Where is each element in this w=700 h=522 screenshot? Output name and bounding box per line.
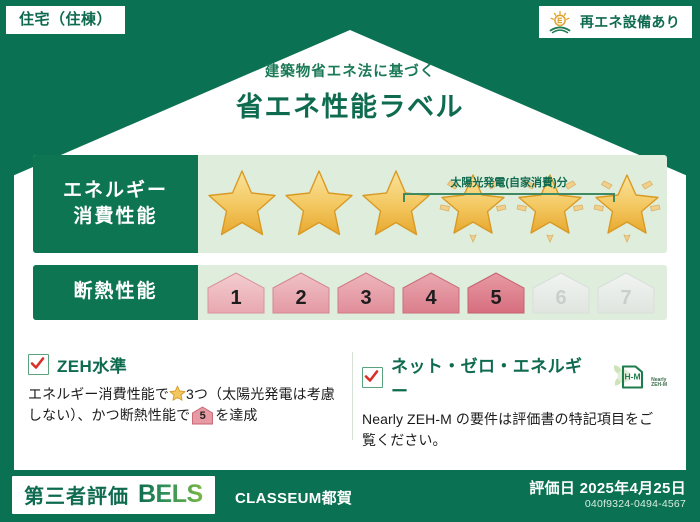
claim-body: Nearly ZEH-M の要件は評価書の特記項目をご覧ください。 <box>362 409 667 452</box>
star-solar <box>437 165 509 243</box>
insulation-level: 3 <box>335 271 397 315</box>
claim-text-part2: 3つ（太陽光発電 <box>186 386 293 402</box>
star-icon <box>169 385 186 402</box>
insulation-level: 1 <box>205 271 267 315</box>
bels-certification-box: 第三者評価 BELS <box>12 476 215 514</box>
energy-performance-label: 住宅（住棟） 再エネ設備あり 建築物省エネ法に基づく 省エネ性能ラベル <box>0 0 700 522</box>
title-subtitle: 建築物省エネ法に基づく <box>0 60 700 81</box>
claim-net-zero-energy: ネット・ゼロ・エネルギー H-M Nearly ZEH-M Nearly ZEH… <box>362 352 667 452</box>
checkmark-icon <box>28 354 49 375</box>
zeh-m-logo-caption: Nearly ZEH-M <box>651 378 667 393</box>
insulation-performance-row: 断熱性能 1 <box>33 265 667 320</box>
claim-text-part1: エネルギー消費性能で <box>28 386 169 402</box>
insulation-level-scale: 1 2 3 4 5 <box>198 271 667 315</box>
insulation-level-number: 2 <box>270 287 332 310</box>
energy-label-line1: エネルギー <box>63 178 168 204</box>
claims-divider <box>352 352 353 440</box>
star-filled <box>283 165 355 243</box>
insulation-row-body: 1 2 3 4 5 <box>198 265 667 320</box>
zeh-m-logo: H-M Nearly ZEH-M <box>609 362 667 392</box>
insulation-level-number: 3 <box>335 287 397 310</box>
insulation-level: 2 <box>270 271 332 315</box>
zeh-m-caption-line2: ZEH-M <box>651 382 667 388</box>
star-filled <box>360 165 432 243</box>
evaluation-id: 040f9324-0494-4567 <box>585 498 686 510</box>
building-type-label: 住宅（住棟） <box>19 11 112 28</box>
claim-zeh-standard: ZEH水準 エネルギー消費性能で3つ（太陽光発電は考慮しない）、かつ断熱性能で5… <box>28 352 343 427</box>
insulation-level-number: 7 <box>595 287 657 310</box>
star-filled <box>206 165 278 243</box>
energy-row-header: エネルギー 消費性能 <box>33 155 198 253</box>
insulation-level-empty: 7 <box>595 271 657 315</box>
insulation-level-empty: 6 <box>530 271 592 315</box>
star-solar <box>591 165 663 243</box>
insulation-level-achieved: 5 <box>465 271 527 315</box>
energy-row-body: 太陽光発電(自家消費)分 <box>198 155 667 253</box>
footer-bar: 第三者評価 BELS CLASSEUM都賀 評価日 2025年4月25日 040… <box>0 470 700 522</box>
evaluation-date: 評価日 2025年4月25日 <box>529 477 686 498</box>
claim-header: ネット・ゼロ・エネルギー H-M Nearly ZEH-M <box>362 352 667 402</box>
insulation-level-number: 4 <box>400 287 462 310</box>
insulation-level: 4 <box>400 271 462 315</box>
title-block: 建築物省エネ法に基づく 省エネ性能ラベル <box>0 60 700 124</box>
sun-icon <box>547 10 573 34</box>
insulation-level-number: 1 <box>205 287 267 310</box>
insulation-level-number: 6 <box>530 287 592 310</box>
star-solar <box>514 165 586 243</box>
insulation-level-number: 5 <box>465 287 527 310</box>
insulation-row-header: 断熱性能 <box>33 265 198 320</box>
renewable-energy-tag: 再エネ設備あり <box>539 6 692 38</box>
star-rating: 太陽光発電(自家消費)分 <box>198 165 667 243</box>
house-badge-number: 5 <box>191 408 214 425</box>
claim-body: エネルギー消費性能で3つ（太陽光発電は考慮しない）、かつ断熱性能で5を達成 <box>28 384 343 427</box>
energy-performance-row: エネルギー 消費性能 <box>33 155 667 253</box>
bels-logo: BELS <box>138 482 203 507</box>
renewable-label: 再エネ設備あり <box>580 12 680 32</box>
energy-label-line2: 消費性能 <box>63 204 168 230</box>
third-party-label: 第三者評価 <box>24 480 129 509</box>
claim-text-part4: を達成 <box>215 407 257 423</box>
claim-title: ZEH水準 <box>57 352 127 377</box>
checkmark-icon <box>362 367 383 388</box>
claim-title: ネット・ゼロ・エネルギー <box>391 352 596 402</box>
property-name: CLASSEUM都賀 <box>235 487 352 508</box>
svg-text:H-M: H-M <box>625 372 641 382</box>
building-type-tag: 住宅（住棟） <box>6 6 125 34</box>
claim-header: ZEH水準 <box>28 352 343 377</box>
page-title: 省エネ性能ラベル <box>0 85 700 124</box>
house-badge-icon: 5 <box>191 406 214 425</box>
